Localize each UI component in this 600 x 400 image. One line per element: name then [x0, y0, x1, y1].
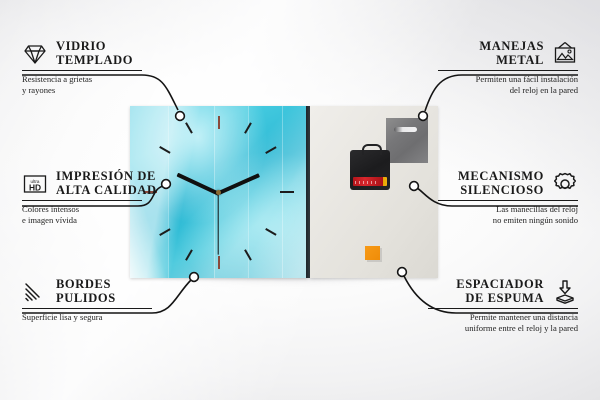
clock-tick: [185, 249, 192, 260]
feature-rule: [22, 308, 152, 309]
diamond-icon: [22, 41, 48, 67]
feature-rule: [428, 308, 578, 309]
feature-description: Las manecillas del reloj no emiten ningú…: [438, 204, 578, 226]
picture-hanger-icon: [552, 41, 578, 67]
feature-description: Permiten una fácil instalación del reloj…: [438, 74, 578, 96]
feature-vidrio-templado: VIDRIO TEMPLADO Resistencia a grietas y …: [22, 40, 162, 96]
gear-icon: [552, 171, 578, 197]
feature-mecanismo-silencioso: MECANISMO SILENCIOSO Las manecillas del …: [438, 170, 578, 226]
feature-title: MANEJAS METAL: [479, 40, 544, 67]
clock-tick: [265, 146, 276, 153]
clock-tick: [185, 122, 192, 133]
mechanism-loop: [362, 144, 382, 155]
clock-tick: [218, 256, 220, 269]
infographic-canvas: VIDRIO TEMPLADO Resistencia a grietas y …: [0, 0, 600, 400]
feature-title: BORDES PULIDOS: [56, 278, 116, 305]
ultra-hd-icon: ultra HD: [22, 171, 48, 197]
feature-title: MECANISMO SILENCIOSO: [458, 170, 544, 197]
clock-center-pin: [216, 190, 221, 195]
clock-tick: [265, 228, 276, 235]
feature-rule: [438, 200, 578, 201]
feature-description: Colores intensos e imagen vívida: [22, 204, 162, 226]
feature-title: IMPRESIÓN DE ALTA CALIDAD: [56, 170, 157, 197]
feature-rule: [22, 70, 142, 71]
clock-back-panel: [310, 106, 438, 278]
product-image: [130, 106, 438, 278]
feature-manejas-metal: MANEJAS METAL Permiten una fácil instala…: [438, 40, 578, 96]
foam-spacer-icon: [552, 279, 578, 305]
hanger-slot: [394, 127, 417, 132]
polished-edges-icon: [22, 279, 48, 305]
foam-spacer: [365, 246, 380, 260]
feature-rule: [22, 200, 142, 201]
feature-espaciador-espuma: ESPACIADOR DE ESPUMA Permite mantener un…: [428, 278, 578, 334]
feature-title: ESPACIADOR DE ESPUMA: [456, 278, 544, 305]
feature-impresion-alta-calidad: ultra HD IMPRESIÓN DE ALTA CALIDAD Color…: [22, 170, 162, 226]
clock-tick: [218, 116, 220, 129]
feature-description: Superficie lisa y segura: [22, 312, 162, 323]
feature-description: Permite mantener una distancia uniforme …: [428, 312, 578, 334]
feature-description: Resistencia a grietas y rayones: [22, 74, 162, 96]
svg-text:HD: HD: [29, 182, 41, 192]
feature-rule: [438, 70, 578, 71]
metal-hanger-plate: [386, 118, 428, 163]
clock-mechanism: [350, 150, 390, 190]
feature-title: VIDRIO TEMPLADO: [56, 40, 133, 67]
battery-label: [355, 181, 377, 184]
clock-tick: [280, 191, 294, 193]
feature-bordes-pulidos: BORDES PULIDOS Superficie lisa y segura: [22, 278, 162, 323]
